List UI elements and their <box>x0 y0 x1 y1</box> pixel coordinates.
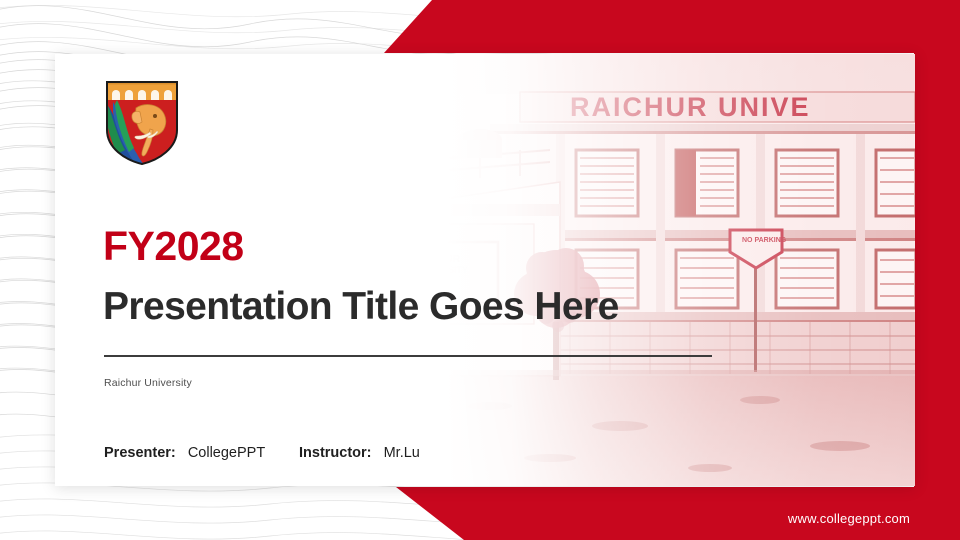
presenter-value: CollegePPT <box>188 445 265 461</box>
title-text-block: FY2028 Presentation Title Goes Here Raic… <box>103 54 803 486</box>
title-divider <box>104 355 712 357</box>
footer-website-url[interactable]: www.collegeppt.com <box>788 511 910 526</box>
accent-shape-right-edge <box>914 0 960 540</box>
fiscal-year-label: FY2028 <box>103 226 244 267</box>
presenter-label: Presenter: <box>104 445 176 461</box>
organization-name: Raichur University <box>104 377 192 389</box>
presentation-slide: RAICHUR UNIVE <box>0 0 960 540</box>
slide-content-card: RAICHUR UNIVE <box>55 54 915 486</box>
page-title: Presentation Title Goes Here <box>103 287 619 326</box>
instructor-label: Instructor: <box>299 445 372 461</box>
credits-line: Presenter: CollegePPT Instructor: Mr.Lu <box>104 445 420 461</box>
accent-shape-top-right <box>384 0 960 53</box>
instructor-value: Mr.Lu <box>384 445 420 461</box>
